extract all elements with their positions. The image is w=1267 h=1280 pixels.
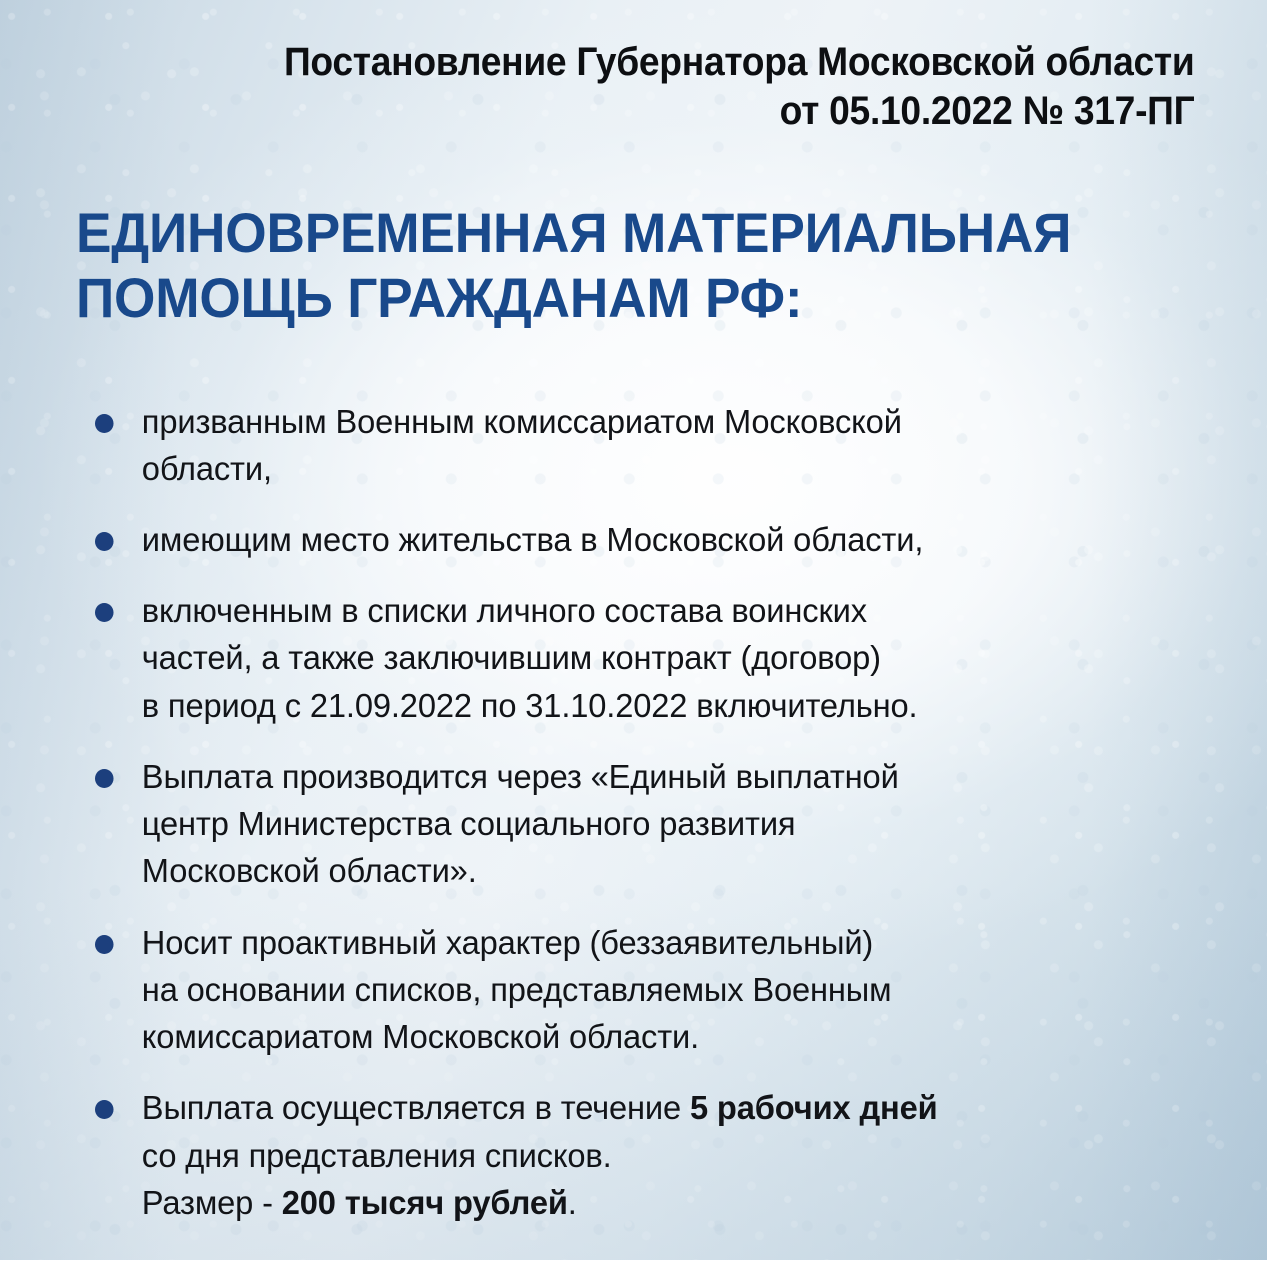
list-item-text: имеющим место жительства в Московской об… [142,517,1199,564]
bullet-dot-icon [95,935,114,954]
list-item: Выплата осуществляется в течение 5 рабоч… [95,1085,1199,1227]
document-header-line-2: от 05.10.2022 № 317-ПГ [163,87,1194,136]
list-item-text: Выплата производится через «Единый выпла… [142,754,1199,896]
bullet-dot-icon [95,769,114,788]
list-item: включенным в списки личного состава воин… [95,588,1199,730]
page-title: ЕДИНОВРЕМЕННАЯ МАТЕРИАЛЬНАЯ ПОМОЩЬ ГРАЖД… [0,173,1204,331]
bullet-dot-icon [95,532,114,551]
bullet-dot-icon [95,603,114,622]
bullet-dot-icon [95,414,114,433]
poster-content: Постановление Губернатора Московской обл… [0,0,1267,1227]
announcement-poster: Постановление Губернатора Московской обл… [0,0,1267,1270]
list-item-text: Выплата осуществляется в течение 5 рабоч… [142,1085,1199,1227]
bullet-dot-icon [95,1100,114,1119]
list-item: Выплата производится через «Единый выпла… [95,754,1199,896]
page-title-line-2: ПОМОЩЬ ГРАЖДАНАМ РФ: [76,266,1137,331]
conditions-list: призванным Военным комиссариатом Московс… [0,369,1267,1228]
list-item: имеющим место жительства в Московской об… [95,517,1199,564]
document-header-line-1: Постановление Губернатора Московской обл… [163,38,1194,87]
list-item-text: Носит проактивный характер (беззаявитель… [142,920,1199,1062]
list-item-text: включенным в списки личного состава воин… [142,588,1199,730]
list-item: призванным Военным комиссариатом Московс… [95,399,1199,493]
page-title-line-1: ЕДИНОВРЕМЕННАЯ МАТЕРИАЛЬНАЯ [76,201,1137,266]
list-item: Носит проактивный характер (беззаявитель… [95,920,1199,1062]
bottom-white-strip [0,1260,1267,1270]
list-item-text: призванным Военным комиссариатом Московс… [142,399,1199,493]
document-header: Постановление Губернатора Московской обл… [89,0,1267,136]
